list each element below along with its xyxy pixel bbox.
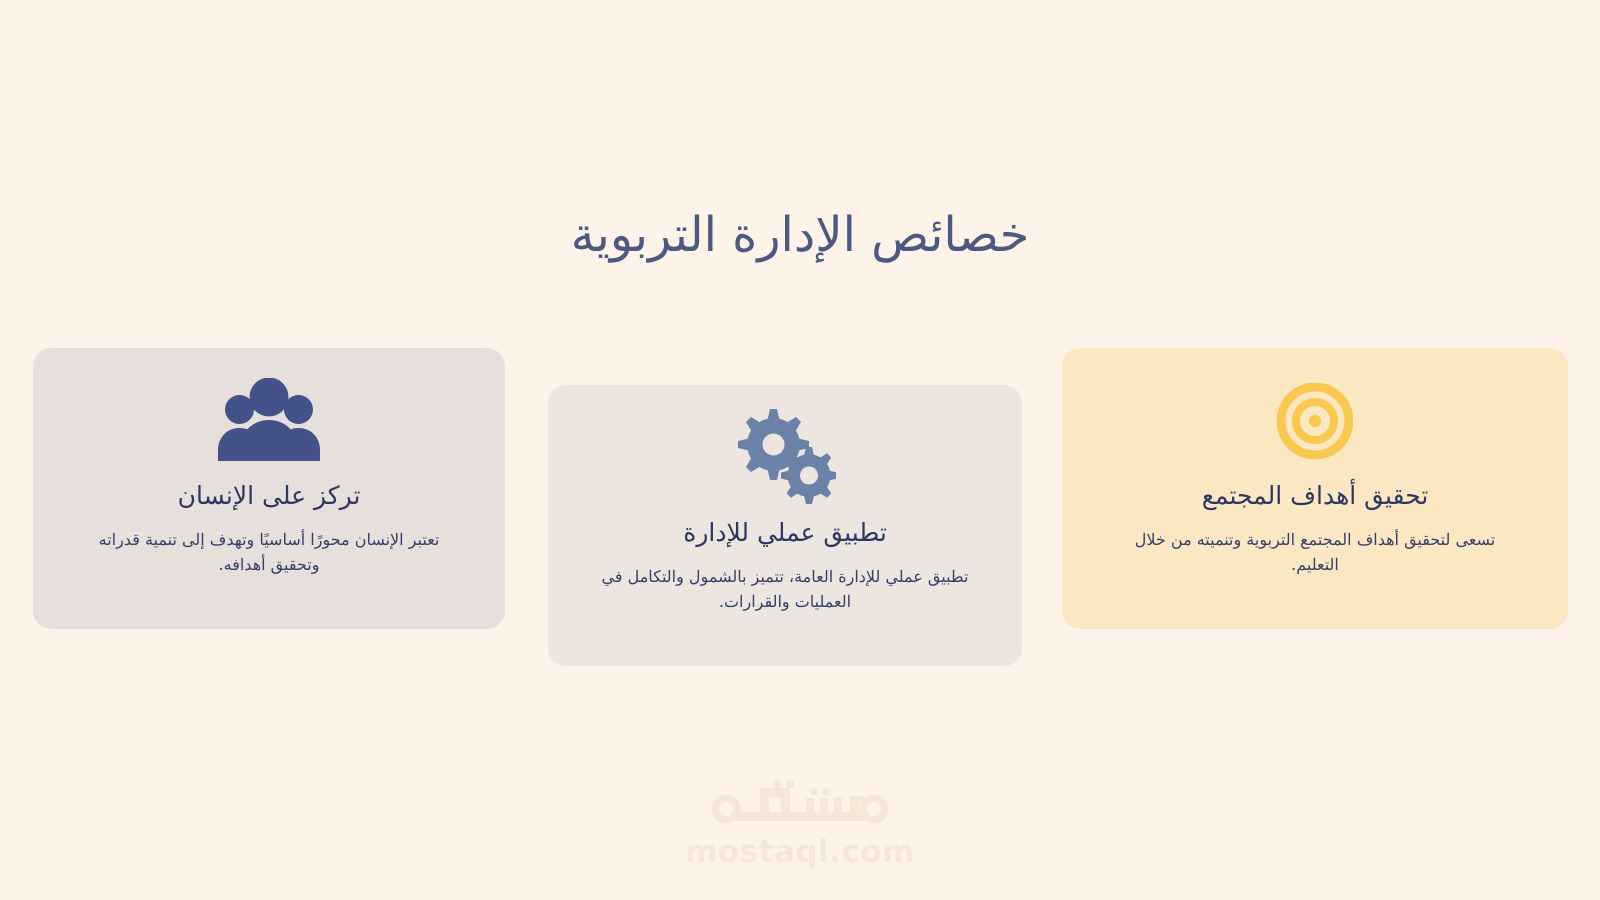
card-body-human-focus: تعتبر الإنسان محورًا أساسيًا وتهدف إلى ت… <box>49 527 489 579</box>
target-bullseye-icon <box>1277 378 1353 464</box>
watermark: mostaql.com <box>0 778 1600 870</box>
slide-canvas: خصائص الإدارة التربوية تركز على الإنسان … <box>0 0 1600 900</box>
mostaql-logo-icon <box>702 778 898 832</box>
feature-card-practical-management: تطبيق عملي للإدارة تطبيق عملي للإدارة ال… <box>548 385 1022 666</box>
card-body-community-goals: تسعى لتحقيق أهداف المجتمع التربوية وتنمي… <box>1095 527 1535 579</box>
page-title: خصائص الإدارة التربوية <box>0 205 1600 265</box>
watermark-url: mostaql.com <box>685 834 915 870</box>
feature-card-human-focus: تركز على الإنسان تعتبر الإنسان محورًا أس… <box>33 348 505 629</box>
feature-card-community-goals: تحقيق أهداف المجتمع تسعى لتحقيق أهداف ال… <box>1062 348 1568 629</box>
card-title-human-focus: تركز على الإنسان <box>178 480 361 513</box>
card-body-practical-management: تطبيق عملي للإدارة العامة، تتميز بالشمول… <box>565 564 1005 616</box>
people-group-icon <box>215 378 323 464</box>
card-title-community-goals: تحقيق أهداف المجتمع <box>1202 480 1429 513</box>
gears-icon <box>734 415 836 501</box>
card-title-practical-management: تطبيق عملي للإدارة <box>683 517 887 550</box>
